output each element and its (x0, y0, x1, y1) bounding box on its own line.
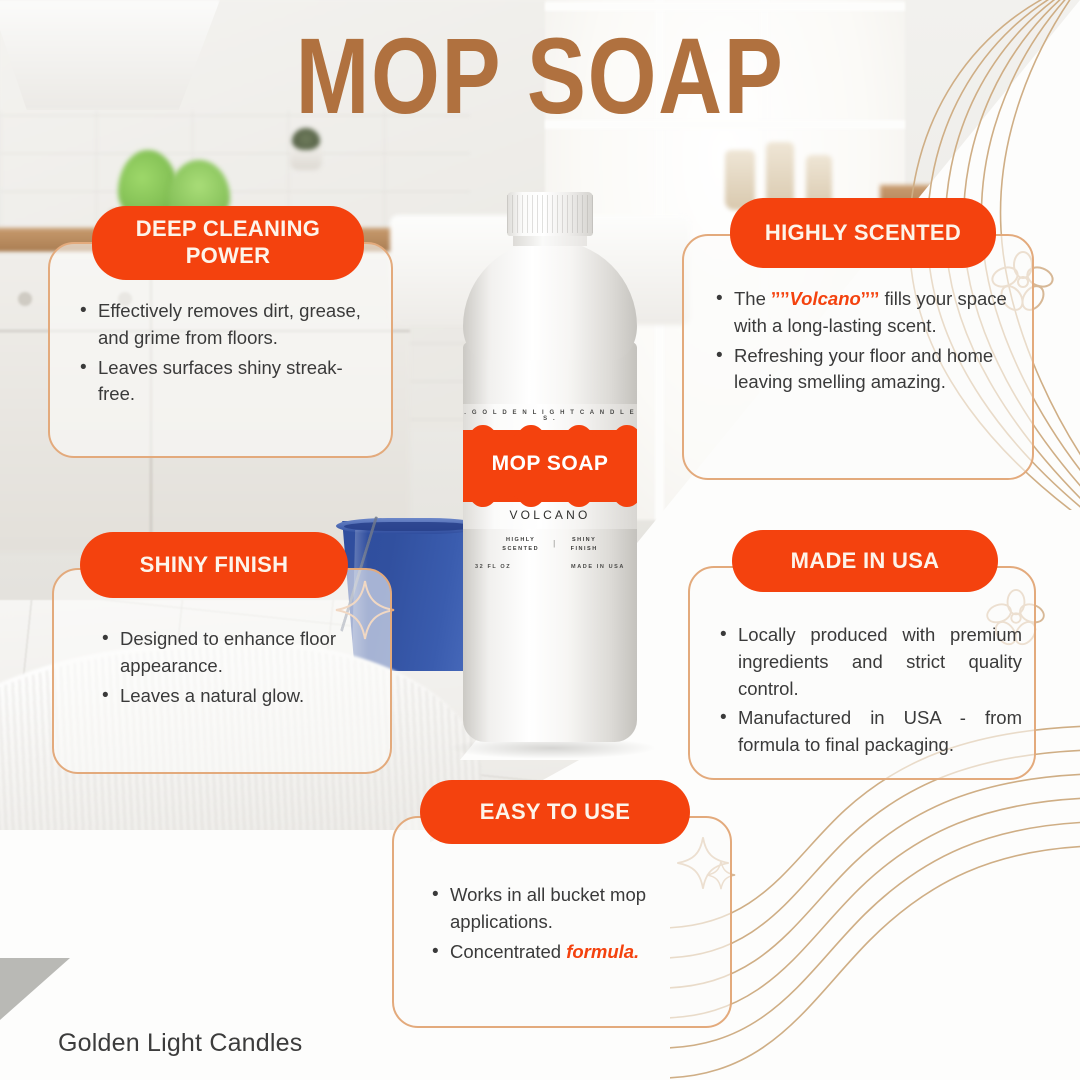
bottle-attribute-left: HIGHLYSCENTED (502, 536, 539, 553)
card-heading-made-in-usa: MADE IN USA (732, 530, 998, 592)
card-bullets-highly-scented: The ˮˮVolcanoˮˮ fills your space with a … (712, 286, 1016, 399)
bottle-attribute-right: SHINYFINISH (571, 536, 598, 553)
card-heading-deep-cleaning-power: DEEP CLEANING POWER (92, 206, 364, 280)
feature-card-easy-to-use: EASY TO USE Works in all bucket mop appl… (392, 780, 732, 1028)
bottle-product-name: MOP SOAP (463, 452, 637, 476)
card-heading-easy-to-use: EASY TO USE (420, 780, 690, 844)
list-item: Effectively removes dirt, grease, and gr… (76, 298, 379, 352)
product-bottle-image: . G O L D E N L I G H T C A N D L E S . … (455, 192, 645, 757)
card-bullets-easy-to-use: Works in all bucket mop applications. Co… (428, 882, 714, 968)
bottle-attribute-separator: | (553, 538, 557, 550)
bottle-attributes: HIGHLYSCENTED | SHINYFINISH (463, 536, 637, 553)
bottle-label: . G O L D E N L I G H T C A N D L E S . … (463, 404, 637, 529)
bottle-scent-name: VOLCANO (463, 508, 637, 522)
list-item: Leaves a natural glow. (98, 683, 372, 710)
feature-card-made-in-usa: MADE IN USA Locally produced with premiu… (688, 530, 1036, 780)
bullet-text-pre: Concentrated (450, 941, 566, 962)
card-heading-highly-scented: HIGHLY SCENTED (730, 198, 996, 268)
feature-card-highly-scented: HIGHLY SCENTED The ˮˮVolcanoˮˮ fills you… (682, 198, 1034, 480)
bottle-origin: MADE IN USA (571, 564, 625, 570)
bottle-brand-line: . G O L D E N L I G H T C A N D L E S . (463, 410, 637, 422)
list-item: Refreshing your floor and home leaving s… (712, 343, 1016, 397)
list-item: Concentrated formula. (428, 939, 714, 966)
list-item: Works in all bucket mop applications. (428, 882, 714, 936)
scent-highlight: ˮˮVolcanoˮˮ (771, 288, 879, 309)
bottle-footer-row: 32 FL OZ MADE IN USA (463, 564, 637, 570)
bullet-text-pre: The (734, 288, 771, 309)
bottle-volume: 32 FL OZ (475, 564, 511, 570)
list-item: Leaves surfaces shiny streak-free. (76, 355, 379, 409)
list-item: Designed to enhance floor appearance. (98, 626, 372, 680)
card-bullets-made-in-usa: Locally produced with premium ingredient… (716, 622, 1022, 762)
page-title: MOP SOAP (97, 22, 983, 130)
footer-brand: Golden Light Candles (58, 1029, 302, 1058)
feature-card-deep-cleaning-power: DEEP CLEANING POWER Effectively removes … (48, 206, 393, 458)
card-bullets-shiny-finish: Designed to enhance floor appearance. Le… (98, 626, 372, 712)
card-bullets-deep-cleaning-power: Effectively removes dirt, grease, and gr… (76, 298, 379, 411)
list-item: The ˮˮVolcanoˮˮ fills your space with a … (712, 286, 1016, 340)
formula-highlight: formula. (566, 941, 639, 962)
list-item: Manufactured in USA - from formula to fi… (716, 705, 1022, 759)
card-heading-shiny-finish: SHINY FINISH (80, 532, 348, 598)
feature-card-shiny-finish: SHINY FINISH Designed to enhance floor a… (52, 532, 392, 774)
infographic-canvas: MOP SOAP . G O L D E N L I G H T C A N D… (0, 0, 1080, 1080)
list-item: Locally produced with premium ingredient… (716, 622, 1022, 702)
